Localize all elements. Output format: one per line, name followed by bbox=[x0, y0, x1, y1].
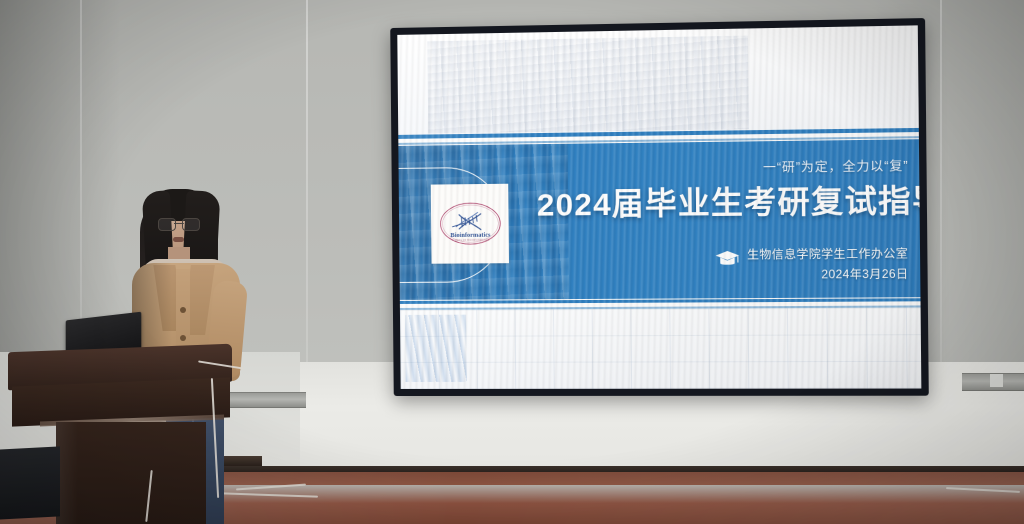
slide-canvas: Bioinformatics SCHOOL OF BIOINFORMATICS … bbox=[397, 25, 921, 389]
logo-wordmark: Bioinformatics bbox=[450, 231, 491, 238]
presenter-mouth bbox=[173, 237, 184, 242]
slide-credit-block: 生物信息学院学生工作办公室 2024年3月26日 bbox=[714, 245, 909, 283]
podium bbox=[2, 330, 238, 524]
slide-top-band bbox=[397, 25, 919, 139]
wall-vent-switch bbox=[990, 374, 1003, 387]
wall-panel-seam bbox=[306, 0, 308, 400]
side-equipment-box bbox=[0, 446, 60, 519]
presenter-button bbox=[180, 307, 186, 313]
slide-date: 2024年3月26日 bbox=[747, 266, 908, 283]
bioinformatics-dna-logo: Bioinformatics SCHOOL OF BIOINFORMATICS bbox=[431, 184, 509, 264]
screen-bezel: Bioinformatics SCHOOL OF BIOINFORMATICS … bbox=[390, 18, 929, 396]
graduation-cap-icon bbox=[714, 248, 741, 268]
logo-subtext: SCHOOL OF BIOINFORMATICS bbox=[451, 239, 489, 242]
lecture-hall-photo: Bioinformatics SCHOOL OF BIOINFORMATICS … bbox=[0, 0, 1024, 524]
podium-column bbox=[56, 422, 206, 524]
presentation-screen[interactable]: Bioinformatics SCHOOL OF BIOINFORMATICS … bbox=[390, 18, 929, 396]
slide-subtitle: 一“研”为定，全力以“复” bbox=[635, 154, 909, 177]
slide-bottom-band bbox=[400, 308, 921, 389]
slide-title: 2024届毕业生考研复试指导会 bbox=[537, 175, 909, 224]
slide-organization: 生物信息学院学生工作办公室 bbox=[747, 245, 908, 263]
glasses-icon bbox=[158, 218, 200, 229]
